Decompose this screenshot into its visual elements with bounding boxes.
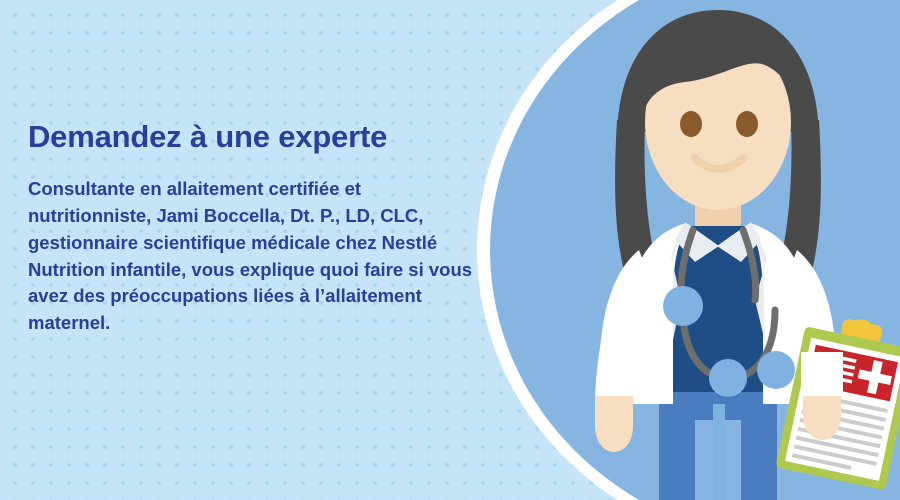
hand-right-over-clipboard-icon: [803, 392, 841, 440]
pants-block-right-icon: [741, 420, 777, 500]
pants-block-left-icon: [659, 420, 695, 500]
body-paragraph: Consultante en allaitement certifiée et …: [28, 176, 476, 337]
promo-banner: Demandez à une experte Consultante en al…: [0, 0, 900, 500]
sleeve-right-cuff-icon: [801, 352, 843, 396]
page-title: Demandez à une experte: [28, 120, 476, 154]
eye-right-icon: [736, 111, 758, 137]
illustration-consultant: [555, 0, 900, 500]
hand-left-icon: [595, 396, 633, 452]
stethoscope-node-right-icon: [757, 351, 795, 389]
eye-left-icon: [680, 111, 702, 137]
pants-highlight-icon: [713, 404, 725, 500]
text-column: Demandez à une experte Consultante en al…: [28, 120, 476, 337]
stethoscope-node-upper-icon: [663, 286, 703, 326]
stethoscope-chestpiece-icon: [709, 359, 747, 397]
